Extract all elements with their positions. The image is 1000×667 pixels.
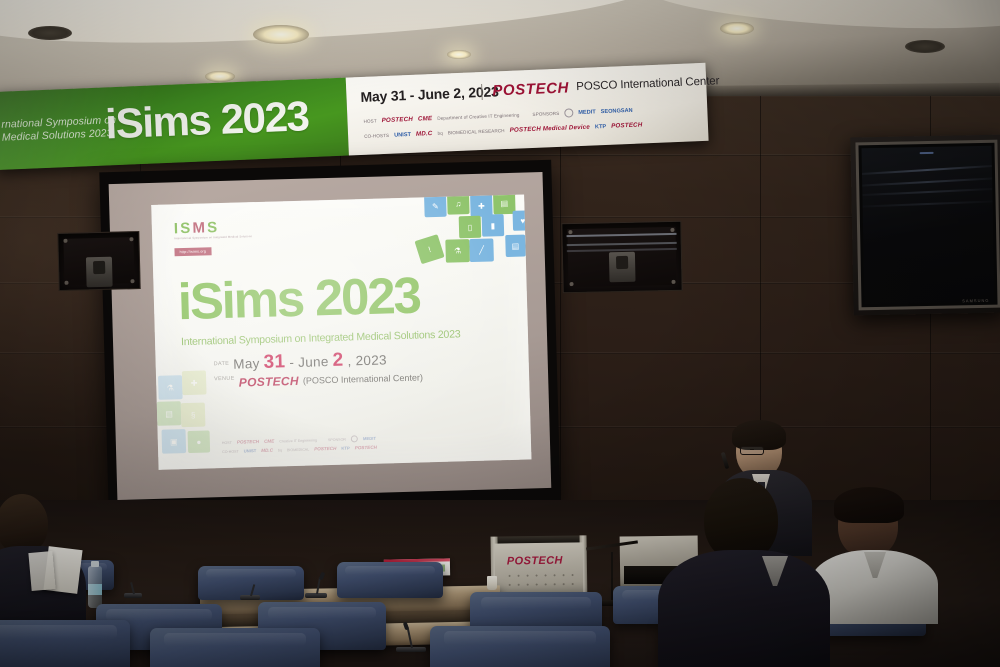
attendee-hair — [834, 487, 904, 523]
wall-display: SAMSUNG — [850, 135, 1000, 316]
display-screen — [862, 146, 995, 304]
gooseneck-microphone — [240, 582, 260, 600]
venue-detail: (POSCO International Center) — [303, 372, 423, 385]
slide-sponsor-block: HOST POSTECH CME Creative IT Engineering… — [222, 429, 472, 454]
banner-postech-logo: POSTECH — [492, 79, 569, 99]
water-bottle — [88, 566, 102, 608]
pill-bottle-icon: ▯ — [459, 216, 482, 239]
display-bezel: SAMSUNG — [855, 140, 1000, 311]
date-comma: , — [347, 353, 351, 368]
downlight-icon — [720, 22, 754, 35]
presentation-slide: ISMS International Symposium on Integrat… — [151, 195, 531, 470]
control-booth-window-right — [561, 221, 682, 293]
projector-icon — [609, 251, 636, 282]
isms-wordmark: ISMS — [174, 219, 252, 236]
pill-icon: ● — [188, 430, 211, 453]
eyeglasses-icon — [740, 446, 764, 455]
bandage-icon: ▤ — [157, 401, 182, 426]
dna-icon: § — [181, 403, 206, 428]
person-attendee-white-shirt — [812, 492, 936, 622]
syringe-icon: ╱ — [469, 238, 494, 262]
attendee-suit — [658, 550, 830, 667]
control-booth-window-left — [57, 231, 140, 291]
ceiling-cove-light — [0, 0, 661, 51]
paper-cup — [487, 576, 497, 590]
display-brand: SAMSUNG — [962, 298, 989, 304]
person-attendee-front-right — [668, 478, 818, 667]
date-day-2: 2 — [332, 350, 343, 372]
date-year: 2023 — [355, 352, 387, 368]
slide-subtitle: International Symposium on Integrated Me… — [181, 328, 461, 348]
flask-icon: ⚗ — [158, 375, 183, 400]
handheld-papers — [28, 551, 55, 591]
isms-url-badge: http://isims.org — [174, 248, 211, 256]
venue-label: VENUE — [214, 376, 235, 383]
venue-brand: POSTECH — [239, 374, 299, 390]
chair — [0, 620, 130, 667]
exclamation-icon: ! — [414, 234, 444, 264]
date-day-1: 31 — [263, 351, 285, 374]
sponsor-circle-mark-icon — [564, 108, 573, 117]
test-tube-icon: ▮ — [482, 214, 505, 237]
gooseneck-microphone — [305, 572, 327, 598]
isms-logo: ISMS International Symposium on Integrat… — [174, 219, 253, 258]
gooseneck-microphone — [396, 622, 426, 652]
sponsor-circle-mark-icon — [351, 435, 358, 442]
gooseneck-microphone — [124, 580, 142, 598]
date-month-1: May — [233, 356, 260, 372]
chair — [150, 628, 320, 667]
stethoscope-icon: ♫ — [447, 195, 470, 215]
date-label: DATE — [214, 361, 230, 367]
display-led-icon — [920, 152, 934, 154]
projection-screen: ISMS International Symposium on Integrat… — [99, 160, 560, 516]
book-icon: ▤ — [505, 235, 526, 258]
date-dash: - — [289, 355, 294, 370]
handheld-microphone — [721, 452, 730, 469]
downlight-icon — [447, 50, 471, 59]
downlight-icon — [253, 25, 309, 44]
medical-cross-icon: ✚ — [182, 370, 207, 395]
downlight-icon — [905, 40, 945, 53]
puzzle-cluster-top-right: ✎ ♫ ✚ ▤ ♥ ▯ ▮ ! ⚗ ╱ ▤ — [400, 195, 531, 286]
ceiling-cove-light-right — [639, 0, 1000, 33]
conference-photo-scene: rnational Symposium on Medical Solutions… — [0, 0, 1000, 667]
slide-title: iSims 2023 — [177, 267, 420, 330]
chair — [337, 562, 443, 598]
chair — [430, 626, 610, 667]
banner-title: iSims 2023 — [104, 90, 309, 150]
attendee-head — [0, 494, 48, 554]
syringe-icon: ✎ — [424, 195, 447, 218]
date-month-2: June — [298, 354, 329, 370]
projector-icon — [86, 256, 113, 287]
monitor-icon: ▣ — [161, 429, 186, 454]
heartbeat-icon: ♥ — [513, 210, 532, 231]
downlight-icon — [28, 26, 72, 40]
screen-surface: ISMS International Symposium on Integrat… — [109, 172, 552, 500]
podium-brand: POSTECH — [507, 555, 563, 568]
downlight-icon — [205, 71, 235, 82]
microscope-icon: ⚗ — [445, 239, 470, 263]
